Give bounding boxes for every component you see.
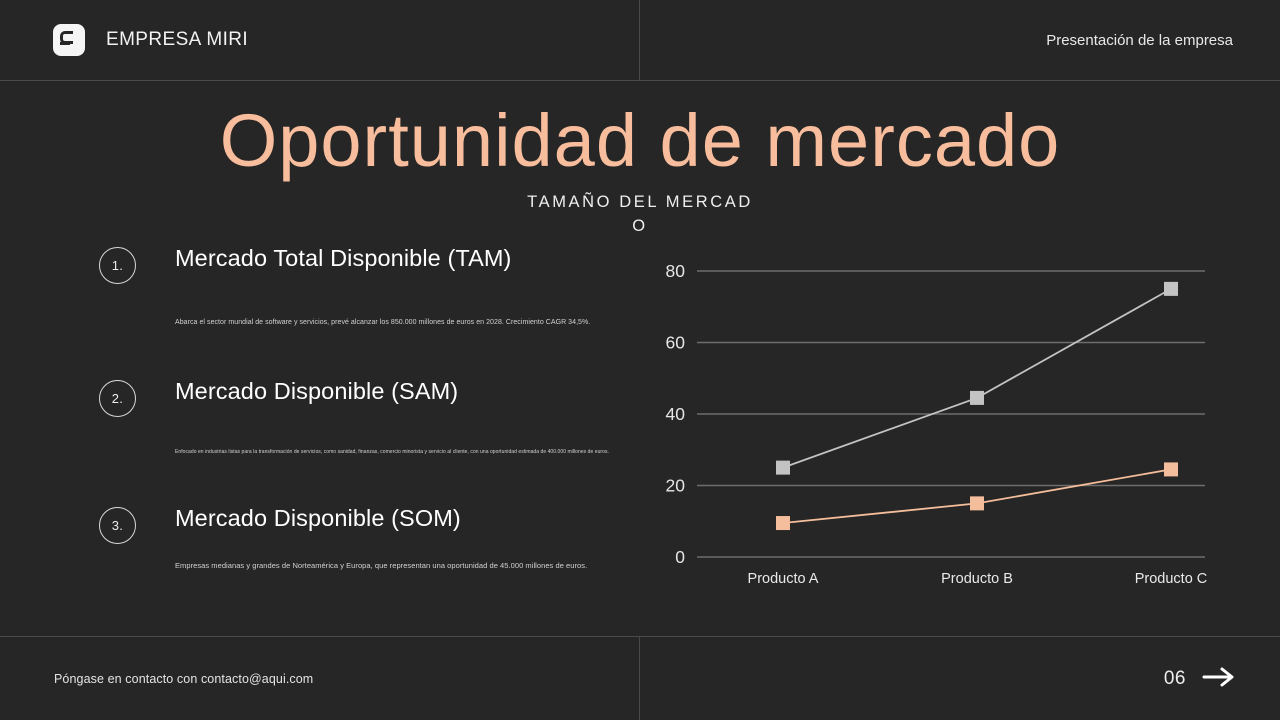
list-item-body: Mercado Total Disponible (TAM) Abarca el…	[175, 243, 619, 328]
series-marker	[776, 461, 790, 475]
list-item: 2. Mercado Disponible (SAM) Enfocado en …	[99, 376, 619, 503]
list-item-description: Empresas medianas y grandes de Norteamér…	[175, 560, 615, 571]
list-item-number: 3.	[99, 507, 136, 544]
list-item-body: Mercado Disponible (SOM) Empresas median…	[175, 503, 619, 571]
slide: EMPRESA MIRI Presentación de la empresa …	[0, 0, 1280, 720]
series-line	[783, 469, 1171, 523]
page-subtitle: TAMAÑO DEL MERCADO	[522, 190, 758, 238]
brand-name: EMPRESA MIRI	[106, 29, 248, 51]
chart-canvas: 020406080Producto AProducto BProducto C	[648, 255, 1228, 595]
list-item: 3. Mercado Disponible (SOM) Empresas med…	[99, 503, 619, 603]
list-item-body: Mercado Disponible (SAM) Enfocado en ind…	[175, 376, 619, 458]
x-axis-tick-label: Producto C	[1135, 571, 1208, 587]
list-item-description: Enfocado en industrias listas para la tr…	[175, 447, 619, 458]
y-axis-tick-label: 20	[666, 476, 686, 496]
list-item-title: Mercado Disponible (SAM)	[175, 376, 619, 406]
series-line	[783, 289, 1171, 468]
list-item-description: Abarca el sector mundial de software y s…	[175, 317, 617, 328]
x-axis-tick-label: Producto B	[941, 571, 1013, 587]
y-axis-tick-label: 0	[675, 547, 685, 567]
arrow-right-icon[interactable]	[1202, 665, 1236, 694]
y-axis-tick-label: 80	[666, 261, 686, 281]
list-item: 1. Mercado Total Disponible (TAM) Abarca…	[99, 243, 619, 376]
x-axis-tick-label: Producto A	[748, 571, 819, 587]
page-subtitle-wrap: TAMAÑO DEL MERCADO	[522, 190, 758, 238]
header-brand-area: EMPRESA MIRI	[0, 0, 640, 80]
footer-left-area: Póngase en contacto con contacto@aqui.co…	[0, 637, 640, 720]
series-marker	[776, 516, 790, 530]
title-block: Oportunidad de mercado TAMAÑO DEL MERCAD…	[0, 100, 1280, 238]
contact-text: Póngase en contacto con contacto@aqui.co…	[54, 672, 313, 686]
header-right-area: Presentación de la empresa	[640, 0, 1280, 80]
header-subtitle-label: Presentación de la empresa	[1046, 32, 1233, 49]
list-item-number: 2.	[99, 380, 136, 417]
y-axis-tick-label: 60	[666, 333, 686, 353]
series-marker	[1164, 462, 1178, 476]
market-size-line-chart: 020406080Producto AProducto BProducto C	[648, 255, 1228, 595]
series-marker	[970, 391, 984, 405]
y-axis-tick-label: 40	[666, 404, 686, 424]
footer-right-area: 06	[640, 637, 1280, 720]
list-item-title: Mercado Total Disponible (TAM)	[175, 243, 619, 273]
market-points-list: 1. Mercado Total Disponible (TAM) Abarca…	[99, 243, 619, 603]
slide-footer: Póngase en contacto con contacto@aqui.co…	[0, 636, 1280, 720]
series-marker	[970, 496, 984, 510]
series-marker	[1164, 282, 1178, 296]
list-item-title: Mercado Disponible (SOM)	[175, 503, 619, 533]
page-number: 06	[1164, 668, 1186, 690]
list-item-number: 1.	[99, 247, 136, 284]
page-title: Oportunidad de mercado	[0, 100, 1280, 182]
slide-header: EMPRESA MIRI Presentación de la empresa	[0, 0, 1280, 81]
app-logo-icon	[53, 24, 85, 56]
